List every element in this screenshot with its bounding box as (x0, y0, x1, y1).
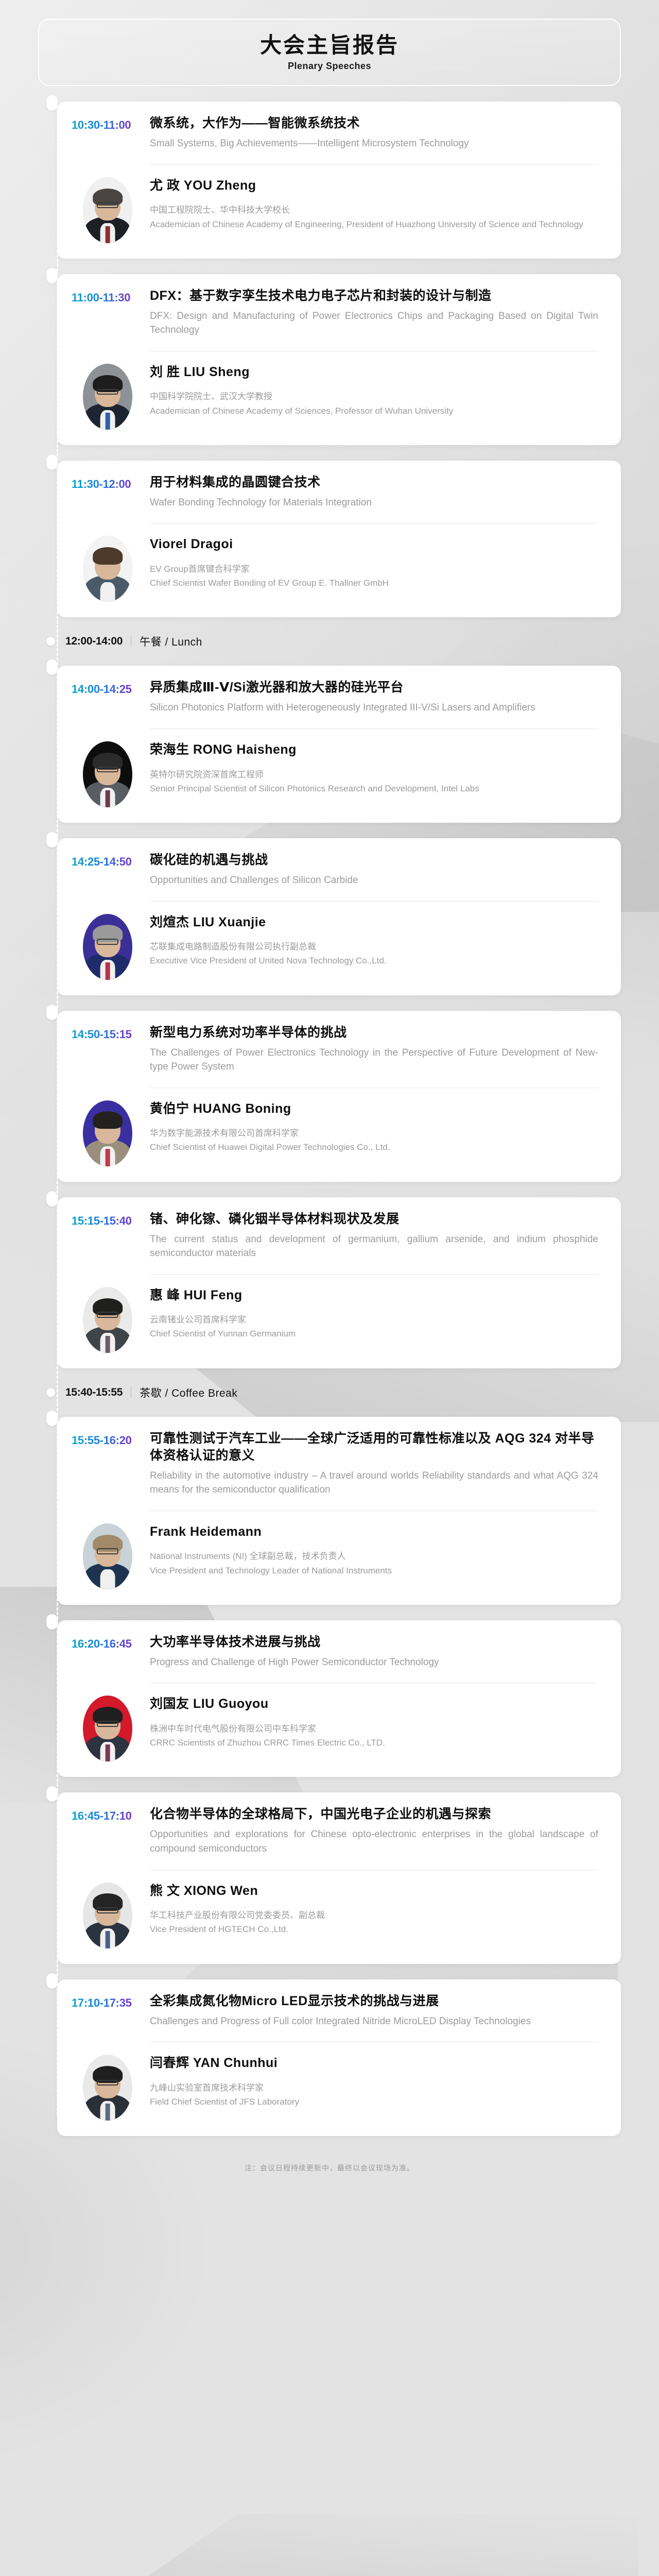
session-titles: 大功率半导体技术进展与挑战Progress and Challenge of H… (150, 1634, 598, 1670)
speaker-org-en: Field Chief Scientist of JFS Laboratory (150, 2095, 598, 2109)
speaker-org-cn: 中国科学院院士、武汉大学教授 (150, 389, 598, 403)
speaker-info: 惠 峰 HUI Feng云南锗业公司首席科学家Chief Scientist o… (150, 1287, 598, 1341)
timeline-dot-icon (46, 832, 58, 848)
break-time: 15:40-15:55 (57, 1386, 123, 1399)
session-title-cn: 锗、砷化镓、磷化铟半导体材料现状及发展 (150, 1211, 598, 1228)
avatar-wrapper (72, 536, 150, 602)
avatar-wrapper (72, 1287, 150, 1353)
timeline-dot-icon (46, 637, 55, 646)
session-card[interactable]: 14:50-15:15新型电力系统对功率半导体的挑战The Challenges… (57, 1011, 621, 1182)
avatar (83, 1696, 132, 1761)
session-card[interactable]: 15:15-15:40锗、砷化镓、磷化铟半导体材料现状及发展The curren… (57, 1197, 621, 1368)
footer-note: 注：会议日程持续更新中，最终以会议现场为准。 (0, 2163, 659, 2173)
avatar (83, 536, 132, 602)
speaker-org-en: Executive Vice President of United Nova … (150, 954, 598, 968)
portrait-yan-chunhui (83, 2055, 132, 2121)
page-title-cn: 大会主旨报告 (39, 33, 620, 58)
avatar-wrapper (72, 1100, 150, 1166)
agenda-session-row: 14:25-14:50碳化硅的机遇与挑战Opportunities and Ch… (0, 838, 659, 995)
session-time: 17:10-17:35 (72, 1993, 150, 2011)
session-titles: 微系统，大作为——智能微系统技术Small Systems, Big Achie… (150, 115, 598, 151)
glasses-icon (97, 1907, 118, 1913)
session-time: 14:25-14:50 (72, 852, 150, 870)
avatar-wrapper (72, 1523, 150, 1589)
avatar (83, 1287, 132, 1353)
glasses-icon (97, 202, 118, 208)
avatar-wrapper (72, 2055, 150, 2121)
session-header: 15:15-15:40锗、砷化镓、磷化铟半导体材料现状及发展The curren… (72, 1211, 598, 1261)
session-header: 11:00-11:30DFX：基于数字孪生技术电力电子芯片和封装的设计与制造DF… (72, 287, 598, 337)
speaker-block: 闫春辉 YAN Chunhui九峰山实验室首席技术科学家Field Chief … (72, 2055, 598, 2121)
glasses-icon (97, 2080, 118, 2086)
avatar-wrapper (72, 914, 150, 980)
agenda-break-row: 15:40-15:55茶歇 / Coffee Break (0, 1384, 659, 1401)
session-header: 11:30-12:00用于材料集成的晶圆键合技术Wafer Bonding Te… (72, 474, 598, 510)
speaker-org-en: Academician of Chinese Academy of Scienc… (150, 404, 598, 418)
agenda-session-row: 15:15-15:40锗、砷化镓、磷化铟半导体材料现状及发展The curren… (0, 1197, 659, 1368)
timeline-dot-icon (46, 268, 58, 283)
session-title-en: Opportunities and Challenges of Silicon … (150, 873, 598, 888)
glasses-icon (97, 1312, 118, 1318)
divider (150, 1088, 598, 1088)
speaker-block: 刘 胜 LIU Sheng中国科学院院士、武汉大学教授Academician o… (72, 364, 598, 430)
session-titles: 全彩集成氮化物Micro LED显示技术的挑战与进展Challenges and… (150, 1993, 598, 2029)
portrait-hui-feng (83, 1287, 132, 1353)
glasses-icon (97, 767, 118, 773)
session-card[interactable]: 14:00-14:25异质集成Ⅲ-Ⅴ/Si激光器和放大器的硅光平台Silicon… (57, 666, 621, 823)
divider (150, 351, 598, 351)
session-title-en: The current status and development of ge… (150, 1232, 598, 1261)
timeline-dot-icon (46, 1005, 58, 1020)
timeline-dot-icon (46, 95, 58, 111)
agenda-break-row: 12:00-14:00午餐 / Lunch (0, 633, 659, 650)
timeline-dot-icon (46, 1388, 55, 1397)
speaker-info: 刘 胜 LIU Sheng中国科学院院士、武汉大学教授Academician o… (150, 364, 598, 418)
session-header: 14:25-14:50碳化硅的机遇与挑战Opportunities and Ch… (72, 852, 598, 888)
speaker-org-en: Academician of Chinese Academy of Engine… (150, 217, 598, 231)
session-card[interactable]: 10:30-11:00微系统，大作为——智能微系统技术Small Systems… (57, 101, 621, 259)
session-title-en: Silicon Photonics Platform with Heteroge… (150, 701, 598, 715)
session-header: 14:00-14:25异质集成Ⅲ-Ⅴ/Si激光器和放大器的硅光平台Silicon… (72, 679, 598, 715)
speaker-info: 刘煊杰 LIU Xuanjie芯联集成电路制造股份有限公司执行副总裁Execut… (150, 914, 598, 968)
session-title-cn: 可靠性测试于汽车工业——全球广泛适用的可靠性标准以及 AQG 324 对半导体资… (150, 1430, 598, 1464)
glasses-icon (97, 389, 118, 395)
session-title-cn: 碳化硅的机遇与挑战 (150, 852, 598, 869)
avatar-wrapper (72, 1883, 150, 1948)
session-time: 14:50-15:15 (72, 1024, 150, 1043)
session-time: 10:30-11:00 (72, 115, 150, 133)
avatar (83, 177, 132, 243)
divider (150, 523, 598, 523)
speaker-block: Viorel DragoiEV Group首席键合科学家Chief Scient… (72, 536, 598, 602)
speaker-org-cn: 九峰山实验室首席技术科学家 (150, 2081, 598, 2095)
timeline-dot-icon (46, 454, 58, 470)
speaker-name: 刘 胜 LIU Sheng (150, 364, 598, 381)
session-time: 14:00-14:25 (72, 679, 150, 698)
agenda-session-row: 11:00-11:30DFX：基于数字孪生技术电力电子芯片和封装的设计与制造DF… (0, 274, 659, 445)
session-title-en: Small Systems, Big Achievements——Intelli… (150, 137, 598, 151)
session-title-en: DFX: Design and Manufacturing of Power E… (150, 309, 598, 337)
session-titles: 用于材料集成的晶圆键合技术Wafer Bonding Technology fo… (150, 474, 598, 510)
speaker-name: 闫春辉 YAN Chunhui (150, 2055, 598, 2072)
session-title-cn: DFX：基于数字孪生技术电力电子芯片和封装的设计与制造 (150, 287, 598, 304)
session-title-cn: 新型电力系统对功率半导体的挑战 (150, 1024, 598, 1041)
session-titles: DFX：基于数字孪生技术电力电子芯片和封装的设计与制造DFX: Design a… (150, 287, 598, 337)
session-header: 15:55-16:20可靠性测试于汽车工业——全球广泛适用的可靠性标准以及 AQ… (72, 1430, 598, 1497)
divider (150, 728, 598, 729)
timeline-dot-icon (46, 1786, 58, 1802)
session-header: 14:50-15:15新型电力系统对功率半导体的挑战The Challenges… (72, 1024, 598, 1074)
agenda-session-row: 10:30-11:00微系统，大作为——智能微系统技术Small Systems… (0, 101, 659, 259)
portrait-xiong-wen (83, 1883, 132, 1948)
session-header: 10:30-11:00微系统，大作为——智能微系统技术Small Systems… (72, 115, 598, 151)
session-titles: 新型电力系统对功率半导体的挑战The Challenges of Power E… (150, 1024, 598, 1074)
portrait-liu-sheng (83, 364, 132, 430)
speaker-info: 熊 文 XIONG Wen华工科技产业股份有限公司党委委员、副总裁Vice Pr… (150, 1883, 598, 1937)
agenda-session-row: 17:10-17:35全彩集成氮化物Micro LED显示技术的挑战与进展Cha… (0, 1979, 659, 2137)
session-title-en: Progress and Challenge of High Power Sem… (150, 1655, 598, 1670)
timeline-dot-icon (46, 1191, 58, 1207)
background-shape (31, 2514, 638, 2576)
agenda-session-row: 14:00-14:25异质集成Ⅲ-Ⅴ/Si激光器和放大器的硅光平台Silicon… (0, 666, 659, 823)
avatar (83, 914, 132, 980)
speaker-info: 闫春辉 YAN Chunhui九峰山实验室首席技术科学家Field Chief … (150, 2055, 598, 2109)
session-title-cn: 大功率半导体技术进展与挑战 (150, 1634, 598, 1651)
session-title-cn: 用于材料集成的晶圆键合技术 (150, 474, 598, 491)
speaker-org-cn: 华工科技产业股份有限公司党委委员、副总裁 (150, 1908, 598, 1922)
session-time: 15:15-15:40 (72, 1211, 150, 1229)
break-label: 茶歇 / Coffee Break (140, 1385, 237, 1400)
divider (131, 636, 131, 647)
timeline-dot-icon (46, 1614, 58, 1630)
avatar (83, 1100, 132, 1166)
speaker-block: 荣海生 RONG Haisheng英特尔研究院资深首席工程师Senior Pri… (72, 741, 598, 807)
speaker-name: 荣海生 RONG Haisheng (150, 741, 598, 758)
session-title-cn: 异质集成Ⅲ-Ⅴ/Si激光器和放大器的硅光平台 (150, 679, 598, 696)
speaker-org-cn: 华为数字能源技术有限公司首席科学家 (150, 1126, 598, 1140)
session-title-en: Challenges and Progress of Full color In… (150, 2014, 598, 2029)
speaker-org-cn: 云南锗业公司首席科学家 (150, 1313, 598, 1327)
session-card[interactable]: 14:25-14:50碳化硅的机遇与挑战Opportunities and Ch… (57, 838, 621, 995)
speaker-block: 熊 文 XIONG Wen华工科技产业股份有限公司党委委员、副总裁Vice Pr… (72, 1883, 598, 1948)
break-label: 午餐 / Lunch (140, 634, 202, 649)
speaker-org-en: Chief Scientist of Yunnan Germanium (150, 1327, 598, 1341)
session-title-en: The Challenges of Power Electronics Tech… (150, 1046, 598, 1074)
agenda-session-row: 16:45-17:10化合物半导体的全球格局下，中国光电子企业的机遇与探索Opp… (0, 1792, 659, 1963)
agenda-session-row: 14:50-15:15新型电力系统对功率半导体的挑战The Challenges… (0, 1011, 659, 1182)
avatar (83, 2055, 132, 2121)
session-card[interactable]: 11:00-11:30DFX：基于数字孪生技术电力电子芯片和封装的设计与制造DF… (57, 274, 621, 445)
speaker-name: 尤 政 YOU Zheng (150, 177, 598, 194)
session-card[interactable]: 16:45-17:10化合物半导体的全球格局下，中国光电子企业的机遇与探索Opp… (57, 1792, 621, 1963)
session-title-en: Reliability in the automotive industry –… (150, 1469, 598, 1497)
speaker-org-cn: National Instruments (NI) 全球副总裁，技术负责人 (150, 1549, 598, 1563)
session-header: 17:10-17:35全彩集成氮化物Micro LED显示技术的挑战与进展Cha… (72, 1993, 598, 2029)
speaker-block: 刘国友 LIU Guoyou株洲中车时代电气股份有限公司中车科学家CRRC Sc… (72, 1696, 598, 1761)
session-titles: 可靠性测试于汽车工业——全球广泛适用的可靠性标准以及 AQG 324 对半导体资… (150, 1430, 598, 1497)
speaker-info: Viorel DragoiEV Group首席键合科学家Chief Scient… (150, 536, 598, 590)
portrait-viorel-dragoi (83, 536, 132, 602)
session-card[interactable]: 17:10-17:35全彩集成氮化物Micro LED显示技术的挑战与进展Cha… (57, 1979, 621, 2137)
agenda-session-row: 11:30-12:00用于材料集成的晶圆键合技术Wafer Bonding Te… (0, 461, 659, 618)
agenda-timeline: 10:30-11:00微系统，大作为——智能微系统技术Small Systems… (0, 101, 659, 2136)
session-time: 16:20-16:45 (72, 1634, 150, 1652)
speaker-org-en: Chief Scientist Wafer Bonding of EV Grou… (150, 576, 598, 590)
session-title-cn: 微系统，大作为——智能微系统技术 (150, 115, 598, 132)
avatar (83, 1523, 132, 1589)
break-time: 12:00-14:00 (57, 635, 123, 648)
speaker-info: 刘国友 LIU Guoyou株洲中车时代电气股份有限公司中车科学家CRRC Sc… (150, 1696, 598, 1750)
session-titles: 碳化硅的机遇与挑战Opportunities and Challenges of… (150, 852, 598, 888)
speaker-block: 尤 政 YOU Zheng中国工程院院士、华中科技大学校长Academician… (72, 177, 598, 243)
session-header: 16:20-16:45大功率半导体技术进展与挑战Progress and Cha… (72, 1634, 598, 1670)
portrait-huang-boning (83, 1100, 132, 1166)
session-time: 11:00-11:30 (72, 287, 150, 306)
avatar (83, 1883, 132, 1948)
glasses-icon (97, 939, 118, 945)
portrait-you-zheng (83, 177, 132, 243)
speaker-info: 黄伯宁 HUANG Boning华为数字能源技术有限公司首席科学家Chief S… (150, 1100, 598, 1155)
glasses-icon (97, 1721, 118, 1727)
divider (150, 164, 598, 165)
session-titles: 异质集成Ⅲ-Ⅴ/Si激光器和放大器的硅光平台Silicon Photonics … (150, 679, 598, 715)
speaker-name: Frank Heidemann (150, 1523, 598, 1540)
divider (150, 1683, 598, 1683)
session-time: 15:55-16:20 (72, 1430, 150, 1449)
speaker-block: Frank HeidemannNational Instruments (NI)… (72, 1523, 598, 1589)
speaker-org-en: CRRC Scientists of Zhuzhou CRRC Times El… (150, 1736, 598, 1750)
session-title-en: Opportunities and explorations for Chine… (150, 1827, 598, 1856)
session-titles: 化合物半导体的全球格局下，中国光电子企业的机遇与探索Opportunities … (150, 1806, 598, 1856)
session-title-en: Wafer Bonding Technology for Materials I… (150, 496, 598, 510)
session-card[interactable]: 16:20-16:45大功率半导体技术进展与挑战Progress and Cha… (57, 1620, 621, 1777)
agenda-page: 大会主旨报告 Plenary Speeches 10:30-11:00微系统，大… (0, 0, 659, 2576)
speaker-org-en: Vice President of HGTECH Co.,Ltd. (150, 1922, 598, 1936)
divider (150, 1870, 598, 1870)
session-header: 16:45-17:10化合物半导体的全球格局下，中国光电子企业的机遇与探索Opp… (72, 1806, 598, 1856)
avatar (83, 364, 132, 430)
break-item: 12:00-14:00午餐 / Lunch (57, 633, 621, 650)
session-titles: 锗、砷化镓、磷化铟半导体材料现状及发展The current status an… (150, 1211, 598, 1261)
page-header: 大会主旨报告 Plenary Speeches (38, 19, 621, 86)
speaker-org-cn: 英特尔研究院资深首席工程师 (150, 768, 598, 782)
divider (150, 901, 598, 902)
speaker-org-cn: 株洲中车时代电气股份有限公司中车科学家 (150, 1722, 598, 1736)
timeline-dot-icon (46, 1411, 58, 1426)
divider (150, 2042, 598, 2042)
timeline-dot-icon (46, 659, 58, 675)
speaker-info: 尤 政 YOU Zheng中国工程院院士、华中科技大学校长Academician… (150, 177, 598, 231)
break-item: 15:40-15:55茶歇 / Coffee Break (57, 1384, 621, 1401)
session-card[interactable]: 11:30-12:00用于材料集成的晶圆键合技术Wafer Bonding Te… (57, 461, 621, 618)
avatar-wrapper (72, 741, 150, 807)
speaker-info: 荣海生 RONG Haisheng英特尔研究院资深首席工程师Senior Pri… (150, 741, 598, 795)
page-title-en: Plenary Speeches (39, 61, 620, 72)
session-card[interactable]: 15:55-16:20可靠性测试于汽车工业——全球广泛适用的可靠性标准以及 AQ… (57, 1417, 621, 1605)
speaker-name: 熊 文 XIONG Wen (150, 1883, 598, 1900)
agenda-rows: 10:30-11:00微系统，大作为——智能微系统技术Small Systems… (0, 101, 659, 2136)
agenda-session-row: 16:20-16:45大功率半导体技术进展与挑战Progress and Cha… (0, 1620, 659, 1777)
avatar-wrapper (72, 177, 150, 243)
glasses-icon (97, 1548, 118, 1554)
speaker-org-en: Vice President and Technology Leader of … (150, 1564, 598, 1578)
speaker-name: 黄伯宁 HUANG Boning (150, 1100, 598, 1117)
divider (150, 1274, 598, 1275)
speaker-block: 惠 峰 HUI Feng云南锗业公司首席科学家Chief Scientist o… (72, 1287, 598, 1353)
portrait-frank-heidemann (83, 1523, 132, 1589)
portrait-rong-haisheng (83, 741, 132, 807)
avatar-wrapper (72, 1696, 150, 1761)
speaker-block: 黄伯宁 HUANG Boning华为数字能源技术有限公司首席科学家Chief S… (72, 1100, 598, 1166)
speaker-name: 惠 峰 HUI Feng (150, 1287, 598, 1304)
timeline-dot-icon (46, 1973, 58, 1989)
portrait-liu-xuanjie (83, 914, 132, 980)
session-title-cn: 化合物半导体的全球格局下，中国光电子企业的机遇与探索 (150, 1806, 598, 1823)
speaker-name: 刘煊杰 LIU Xuanjie (150, 914, 598, 931)
divider (150, 1511, 598, 1511)
divider (131, 1387, 131, 1398)
speaker-org-en: Chief Scientist of Huawei Digital Power … (150, 1140, 598, 1154)
session-time: 16:45-17:10 (72, 1806, 150, 1824)
speaker-name: 刘国友 LIU Guoyou (150, 1696, 598, 1713)
speaker-org-en: Senior Principal Scientist of Silicon Ph… (150, 782, 598, 795)
speaker-name: Viorel Dragoi (150, 536, 598, 553)
speaker-org-cn: 芯联集成电路制造股份有限公司执行副总裁 (150, 940, 598, 954)
session-time: 11:30-12:00 (72, 474, 150, 493)
speaker-info: Frank HeidemannNational Instruments (NI)… (150, 1523, 598, 1578)
speaker-org-cn: 中国工程院院士、华中科技大学校长 (150, 203, 598, 217)
speaker-org-cn: EV Group首席键合科学家 (150, 562, 598, 576)
agenda-session-row: 15:55-16:20可靠性测试于汽车工业——全球广泛适用的可靠性标准以及 AQ… (0, 1417, 659, 1605)
portrait-liu-guoyou (83, 1696, 132, 1761)
avatar (83, 741, 132, 807)
session-title-cn: 全彩集成氮化物Micro LED显示技术的挑战与进展 (150, 1993, 598, 2010)
speaker-block: 刘煊杰 LIU Xuanjie芯联集成电路制造股份有限公司执行副总裁Execut… (72, 914, 598, 980)
avatar-wrapper (72, 364, 150, 430)
